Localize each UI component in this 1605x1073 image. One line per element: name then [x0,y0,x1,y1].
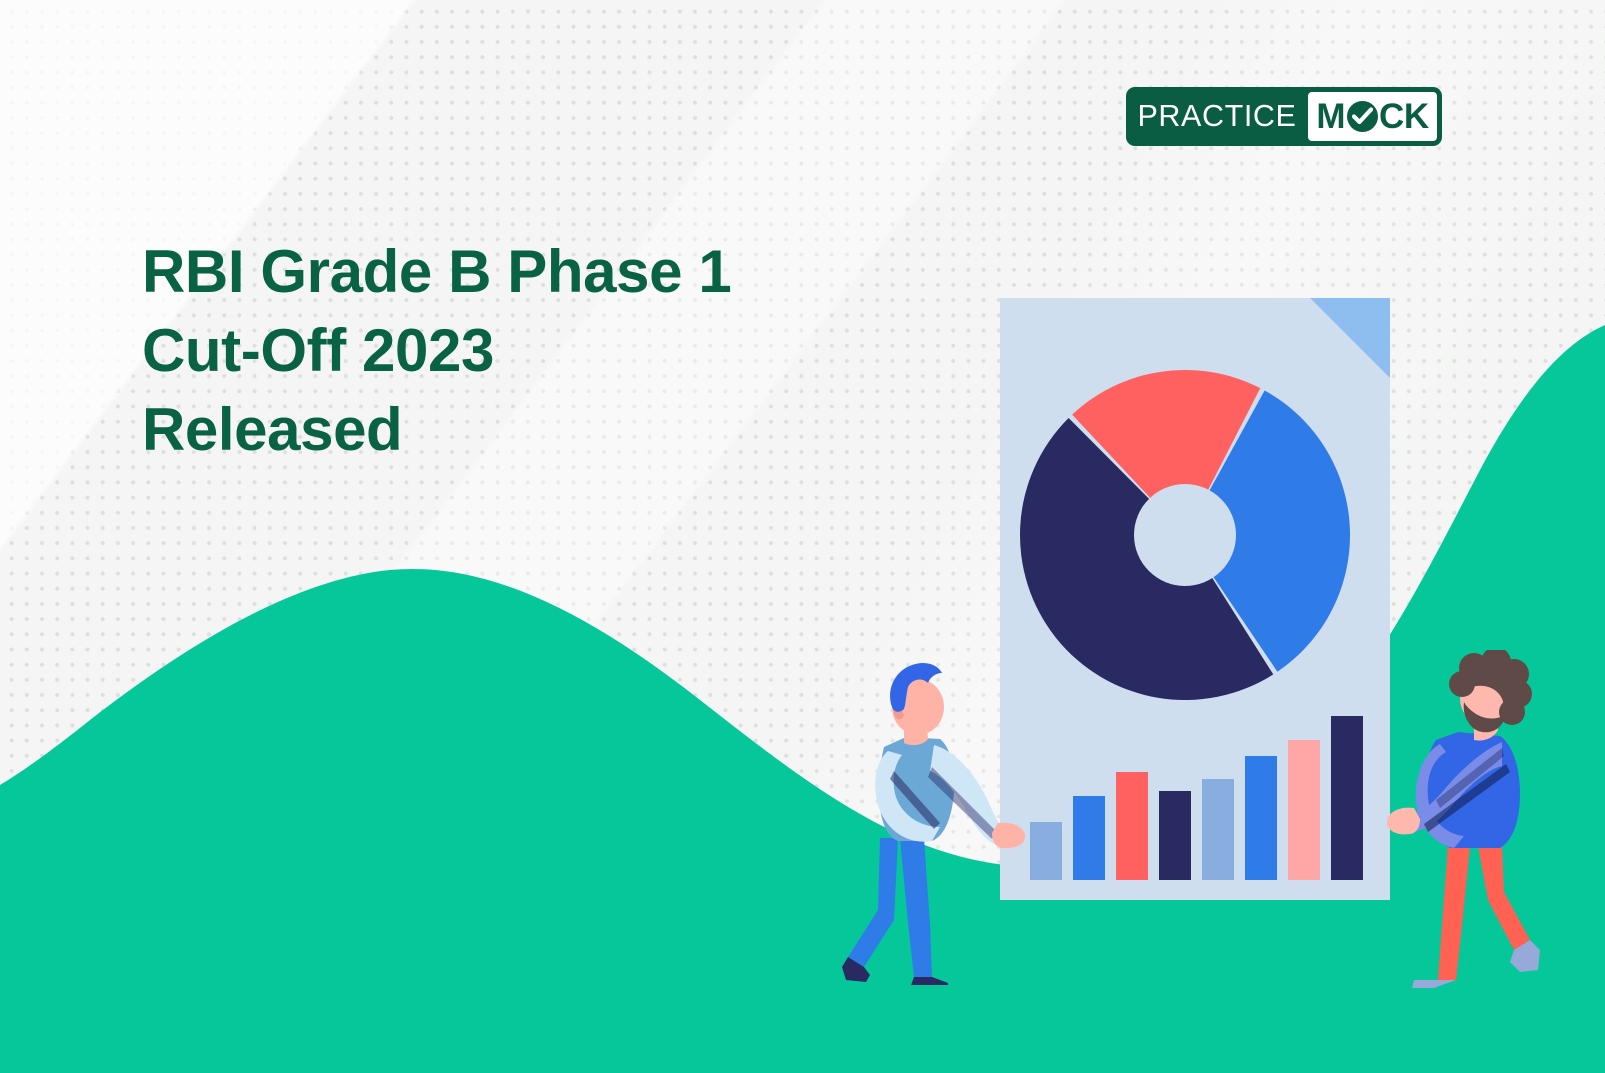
bar-chart-bar [1159,791,1191,880]
bar-chart-bar [1245,756,1277,880]
bar-chart-bar [1073,796,1105,880]
bar-chart-bar [1202,779,1234,880]
bar-chart-bar [1331,716,1363,880]
check-in-circle-icon [1347,101,1378,132]
logo-word-mock: M CK [1316,99,1428,134]
page-title: RBI Grade B Phase 1 Cut-Off 2023 Release… [142,232,932,470]
headline-line-1: RBI Grade B Phase 1 [142,232,932,311]
person-carrying-right [1378,650,1593,990]
person-carrying-left [836,655,1036,985]
donut-chart [1020,370,1350,700]
practicemock-logo[interactable]: PRACTICE M CK [1126,87,1442,146]
illustration-group [0,0,1605,1073]
logo-letter-m: M [1316,99,1345,134]
headline-line-2: Cut-Off 2023 [142,311,932,390]
logo-letter-ck: CK [1379,99,1429,134]
donut-hole [1134,484,1236,586]
headline-line-3: Released [142,390,932,469]
bar-chart-bar [1116,772,1148,880]
logo-word-practice: PRACTICE [1137,99,1296,134]
logo-right-plate: M CK [1308,92,1437,141]
banner-root: RBI Grade B Phase 1 Cut-Off 2023 Release… [0,0,1605,1073]
bar-chart-bar [1288,740,1320,880]
bar-chart [1030,700,1370,880]
logo-left-plate: PRACTICE [1126,87,1308,146]
